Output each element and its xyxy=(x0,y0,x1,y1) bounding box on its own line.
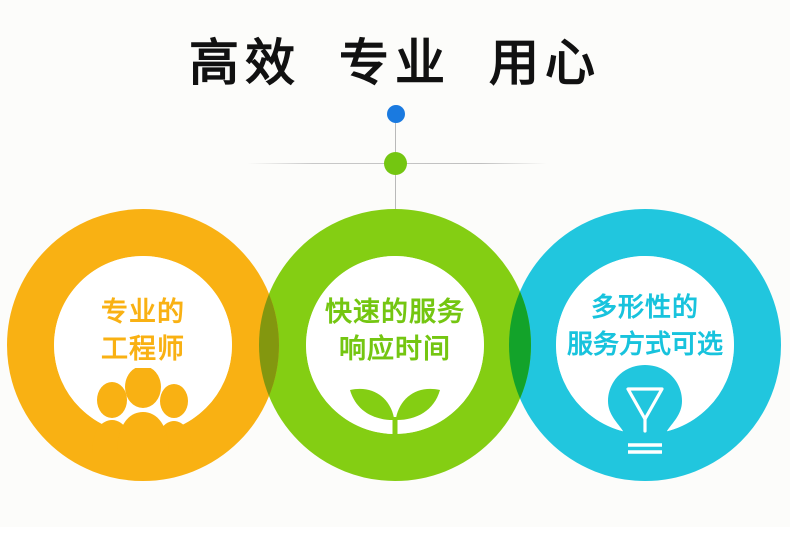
infographic-canvas: 高效专业用心 专业的 工程师 xyxy=(0,0,790,557)
headline-word-3: 用心 xyxy=(489,34,601,92)
circle-service-modes-line2: 服务方式可选 xyxy=(530,326,760,363)
circle-engineers-line2: 工程师 xyxy=(28,331,258,368)
people-group-icon xyxy=(28,368,258,458)
circle-service-modes-text: 多形性的 服务方式可选 xyxy=(530,256,760,363)
circle-response-time-text: 快速的服务 响应时间 xyxy=(280,256,510,368)
circle-response-time: 快速的服务 响应时间 xyxy=(280,256,510,496)
page-title: 高效专业用心 xyxy=(0,34,790,92)
circle-response-time-line2: 响应时间 xyxy=(280,331,510,368)
circle-service-modes: 多形性的 服务方式可选 xyxy=(530,256,760,496)
green-node-icon xyxy=(384,152,407,175)
circle-response-time-line1: 快速的服务 xyxy=(280,294,510,331)
circle-service-modes-line1: 多形性的 xyxy=(530,289,760,326)
circle-engineers-text: 专业的 工程师 xyxy=(28,256,258,368)
sprout-icon xyxy=(280,368,510,458)
headline-word-1: 高效 xyxy=(189,34,301,92)
circle-engineers: 专业的 工程师 xyxy=(28,256,258,496)
circle-engineers-line1: 专业的 xyxy=(28,294,258,331)
lightbulb-icon xyxy=(530,363,760,453)
headline-word-2: 专业 xyxy=(339,34,451,92)
blue-node-icon xyxy=(387,105,405,123)
